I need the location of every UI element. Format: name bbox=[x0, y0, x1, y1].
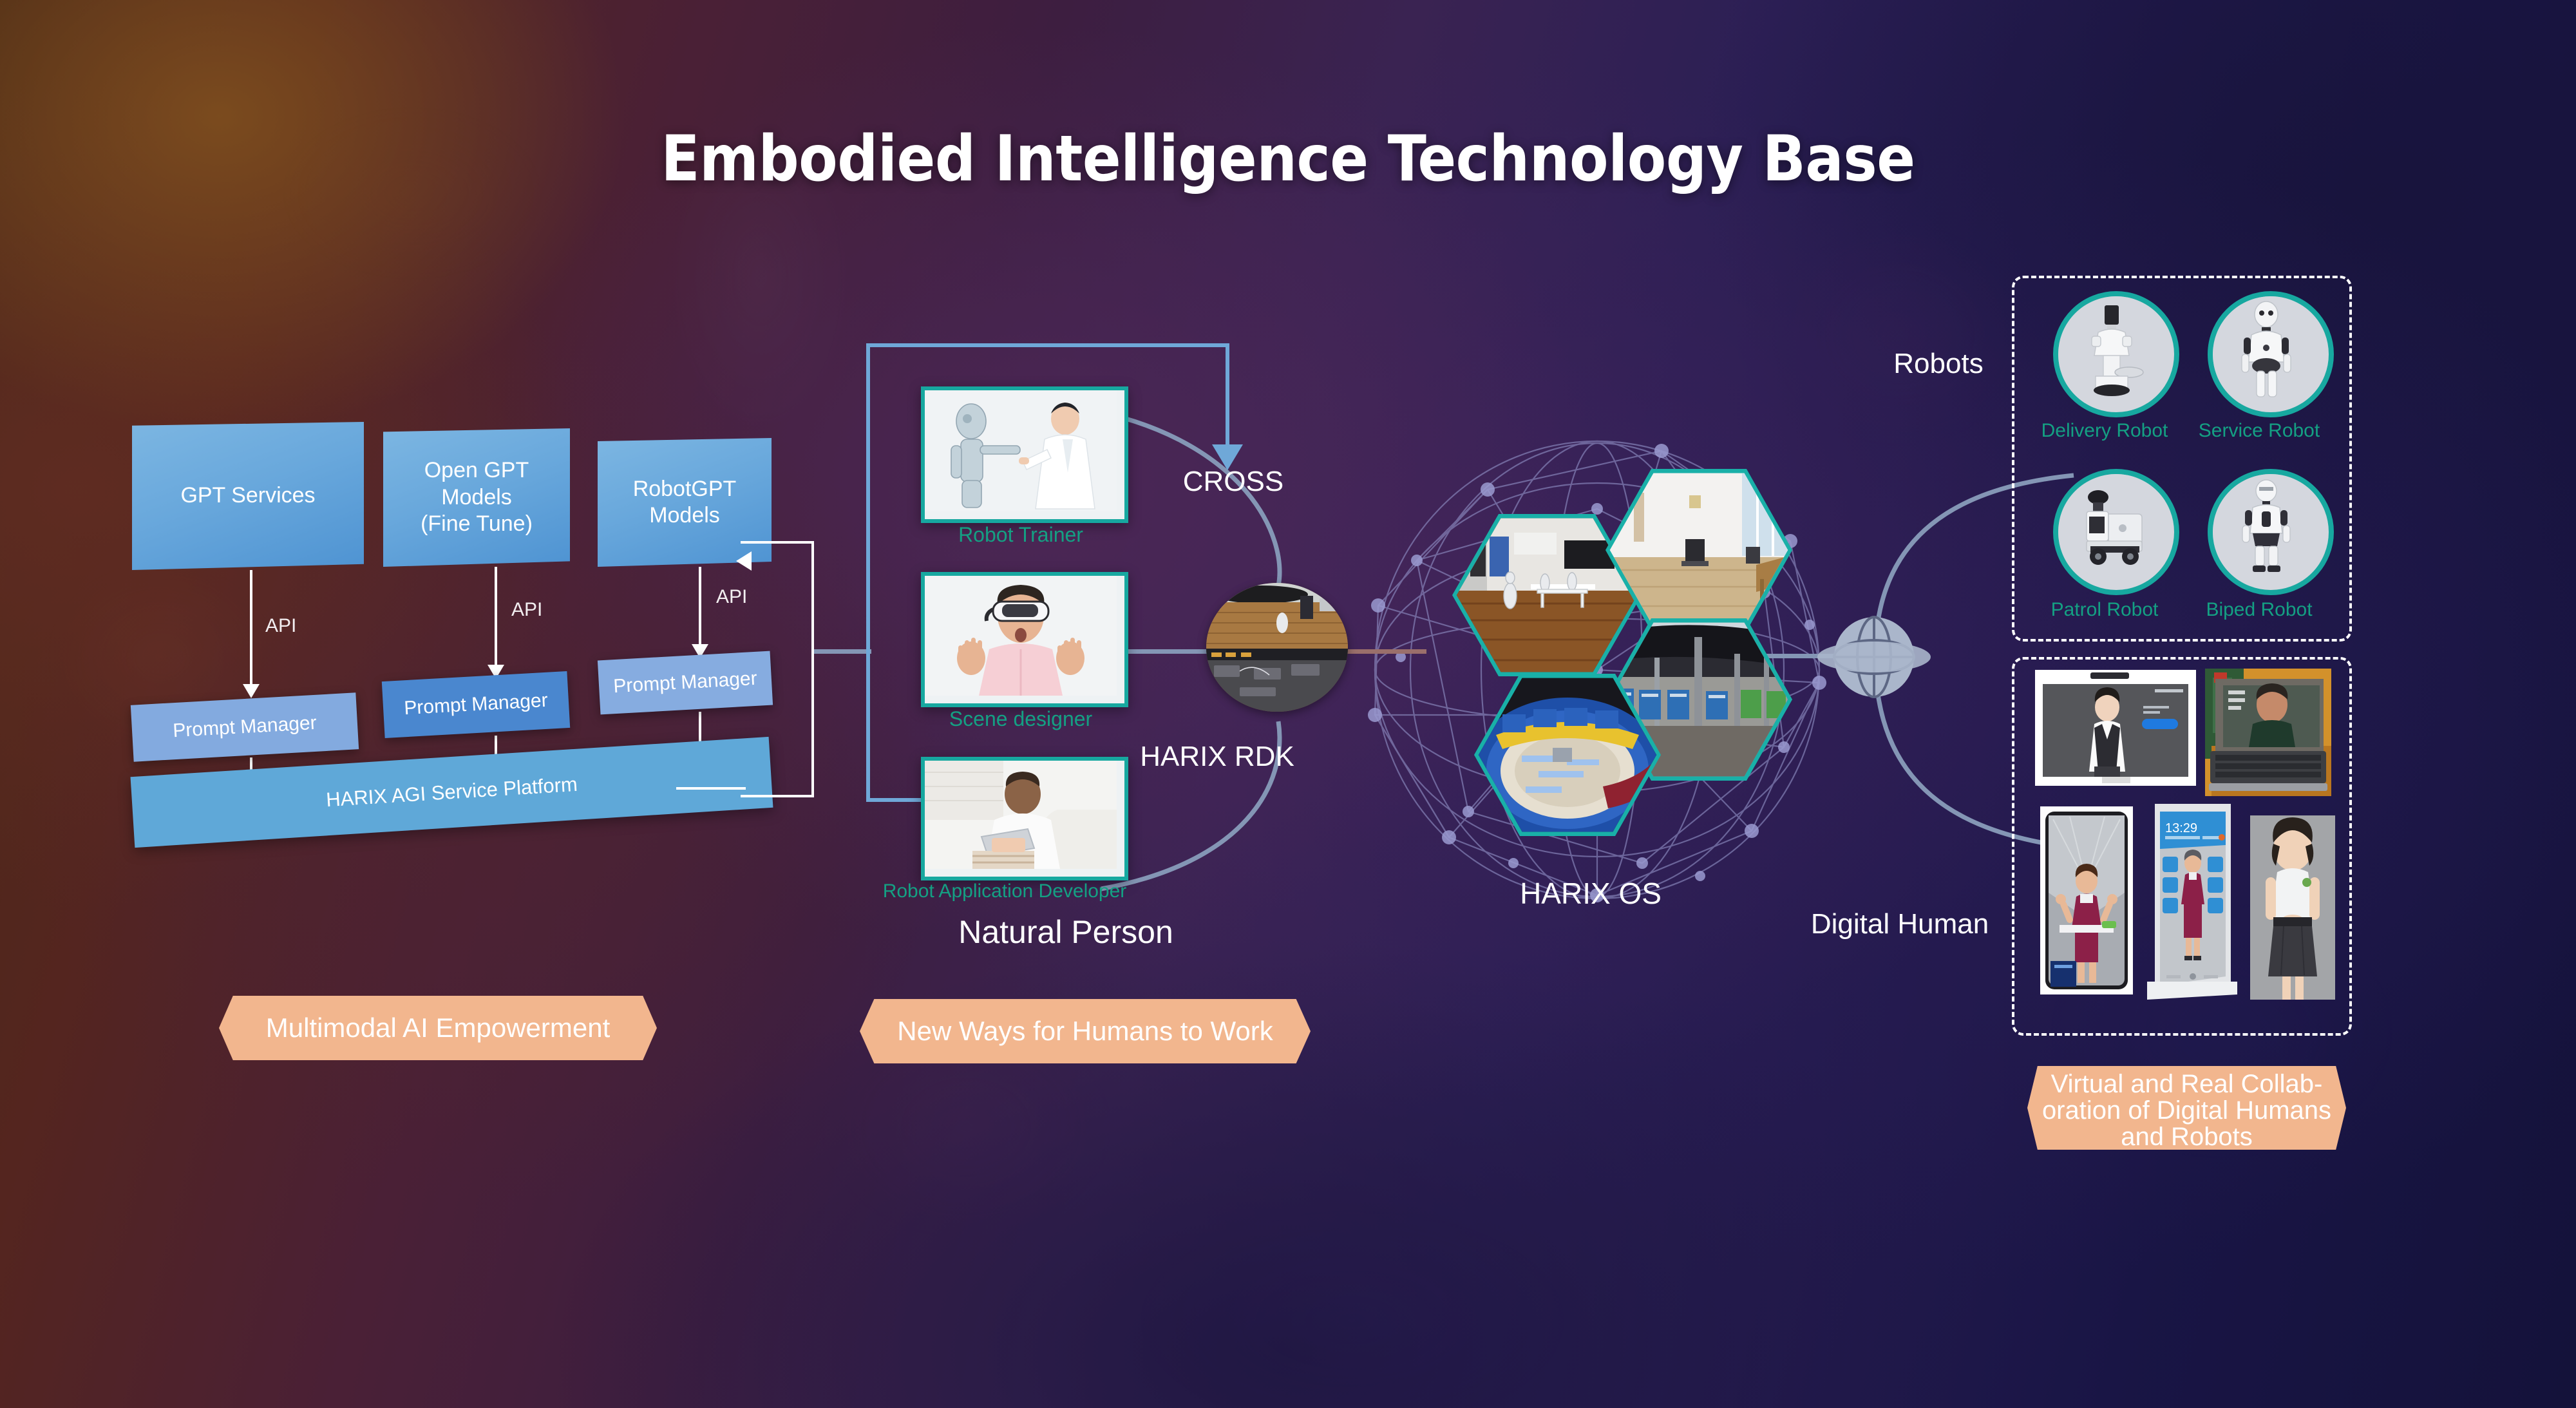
banner-multimodal-ai-empowerment[interactable]: Multimodal AI Empowerment bbox=[219, 996, 657, 1060]
robot-circle-patrol[interactable] bbox=[2053, 469, 2179, 595]
feedback-loop-base bbox=[676, 787, 746, 790]
harix-rdk-label: HARIX RDK bbox=[1075, 741, 1359, 773]
biped-robot-photo bbox=[2213, 474, 2320, 581]
rdk-editor-screenshot bbox=[1206, 583, 1348, 712]
bracket-top-extension bbox=[998, 343, 1229, 347]
robot-circle-biped[interactable] bbox=[2208, 469, 2334, 595]
feedback-loop-path bbox=[741, 541, 814, 797]
digital-human-laptop[interactable] bbox=[2205, 669, 2331, 796]
robotgpt-models-label: RobotGPT Models bbox=[633, 476, 737, 529]
harix-os-label: HARIX OS bbox=[1397, 876, 1784, 911]
robot-trainer-photo bbox=[925, 390, 1117, 511]
robots-group-label: Robots bbox=[1803, 348, 2074, 380]
banner-new-ways-for-humans-to-work[interactable]: New Ways for Humans to Work bbox=[860, 999, 1311, 1063]
connector-cards-to-rdk bbox=[1119, 649, 1209, 654]
robot-label-patrol: Patrol Robot bbox=[2014, 599, 2195, 621]
kiosk-screen-avatar bbox=[2035, 670, 2196, 786]
card-scene-designer[interactable] bbox=[921, 572, 1128, 707]
digital-human-kiosk[interactable] bbox=[2035, 670, 2196, 786]
open-gpt-models-block[interactable]: Open GPT Models (Fine Tune) bbox=[383, 428, 570, 567]
svg-text:13:29: 13:29 bbox=[2165, 821, 2197, 835]
platform-label: HARIX AGI Service Platform bbox=[325, 773, 578, 812]
globe-icon bbox=[1816, 599, 1932, 715]
prompt-manager-2[interactable]: Prompt Manager bbox=[382, 671, 570, 738]
gpt-services-block[interactable]: GPT Services bbox=[132, 422, 364, 570]
prompt-manager-2-label: Prompt Manager bbox=[404, 690, 549, 719]
banner-right-line2: oration of Digital Humans bbox=[2020, 1098, 2354, 1124]
banner-right-line1: Virtual and Real Collab- bbox=[2020, 1071, 2354, 1098]
api-label-2: API bbox=[511, 599, 542, 621]
robot-label-biped: Biped Robot bbox=[2169, 599, 2349, 621]
caption-robot-trainer: Robot Trainer bbox=[885, 523, 1156, 547]
caption-scene-designer: Scene designer bbox=[885, 707, 1156, 731]
gpt-services-label: GPT Services bbox=[180, 482, 315, 509]
banner-right-line3: and Robots bbox=[2020, 1124, 2354, 1150]
laptop-video-avatar bbox=[2205, 669, 2331, 796]
vr-scene-designer-photo bbox=[925, 576, 1117, 696]
natural-person-label: Natural Person bbox=[873, 913, 1259, 951]
delivery-robot-photo bbox=[2058, 296, 2165, 403]
card-robot-trainer[interactable] bbox=[921, 386, 1128, 523]
api-label-1: API bbox=[265, 615, 296, 637]
robot-circle-service[interactable] bbox=[2208, 291, 2334, 417]
harix-rdk-thumbnail[interactable] bbox=[1206, 583, 1348, 712]
digital-human-standing-display[interactable]: 13:29 bbox=[2141, 797, 2242, 1000]
digital-human-phone[interactable] bbox=[2040, 806, 2133, 994]
prompt-manager-3-label: Prompt Manager bbox=[613, 668, 758, 698]
prompt-manager-1-label: Prompt Manager bbox=[173, 712, 317, 742]
standing-display-avatar: 13:29 bbox=[2141, 797, 2242, 1000]
poster-canvas: Embodied Intelligence Technology Base GP… bbox=[0, 0, 2576, 1408]
phone-avatar bbox=[2040, 806, 2133, 994]
page-title: Embodied Intelligence Technology Base bbox=[0, 122, 2576, 196]
developer-laptop-photo bbox=[925, 761, 1117, 869]
digital-human-student[interactable] bbox=[2250, 815, 2335, 1000]
api-arrow-head-1 bbox=[243, 684, 260, 698]
banner-center-label: New Ways for Humans to Work bbox=[897, 1016, 1273, 1047]
student-avatar bbox=[2250, 815, 2335, 1000]
connector-platform-to-cards bbox=[813, 649, 871, 654]
banner-left-label: Multimodal AI Empowerment bbox=[266, 1013, 611, 1043]
robot-label-service: Service Robot bbox=[2169, 420, 2349, 442]
open-gpt-models-label: Open GPT Models (Fine Tune) bbox=[421, 457, 533, 537]
caption-robot-application-developer: Robot Application Developer bbox=[869, 880, 1140, 902]
connector-rdk-to-os bbox=[1346, 649, 1426, 654]
banner-virtual-real-collaboration[interactable]: Virtual and Real Collab- oration of Digi… bbox=[2027, 1066, 2346, 1150]
cross-label: CROSS bbox=[1143, 466, 1323, 498]
cross-arrow-stem bbox=[1226, 343, 1229, 446]
digital-human-group-label: Digital Human bbox=[1726, 908, 2074, 940]
api-arrow-line-3 bbox=[699, 567, 701, 649]
robot-label-delivery: Delivery Robot bbox=[2014, 420, 2195, 442]
feedback-loop-arrow bbox=[736, 551, 752, 571]
patrol-robot-photo bbox=[2058, 474, 2165, 581]
api-arrow-line-2 bbox=[495, 567, 497, 670]
service-robot-photo bbox=[2213, 296, 2320, 403]
card-robot-application-developer[interactable] bbox=[921, 757, 1128, 880]
api-arrow-line-1 bbox=[250, 570, 252, 689]
